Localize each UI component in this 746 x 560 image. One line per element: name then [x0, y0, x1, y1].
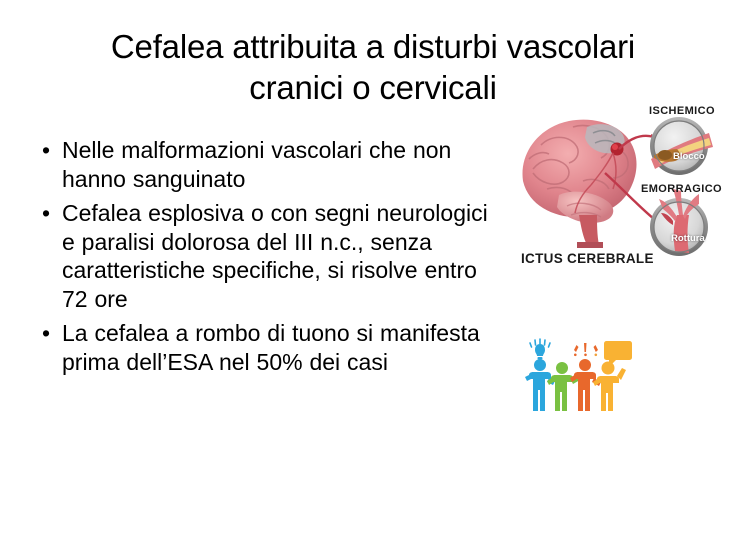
list-item: • La cefalea a rombo di tuono si manifes… [36, 319, 506, 376]
bullet-marker: • [36, 199, 62, 228]
person-yellow [593, 362, 626, 412]
bullet-marker: • [36, 136, 62, 165]
brain-stroke-image: ISCHEMICO EMORRAGICO Blocco Rottura ICTU… [513, 103, 735, 268]
people-ideas-svg [521, 332, 635, 416]
brain-illustration [522, 120, 636, 248]
person-green [547, 362, 580, 411]
bullet-marker: • [36, 319, 62, 348]
bullet-text: Nelle malformazioni vascolari che non ha… [62, 136, 506, 193]
list-item: • Cefalea esplosiva o con segni neurolog… [36, 199, 506, 313]
bullet-list: • Nelle malformazioni vascolari che non … [36, 136, 506, 382]
people-ideas-image [521, 332, 635, 416]
bullet-text: Cefalea esplosiva o con segni neurologic… [62, 199, 506, 313]
figure-label-emorragico: EMORRAGICO [641, 183, 722, 195]
lightbulb-glass-icon [535, 344, 545, 356]
inset-ischemic [650, 117, 713, 175]
figure-caption-ictus-cerebrale: ICTUS CEREBRALE [521, 251, 654, 266]
page-title-line-1: Cefalea attribuita a disturbi vascolari [40, 26, 706, 67]
page-title-line-2: cranici o cervicali [40, 67, 706, 108]
figure-label-ischemico: ISCHEMICO [649, 105, 715, 117]
inset-word-blocco: Blocco [673, 151, 705, 162]
page-title: Cefalea attribuita a disturbi vascolari … [40, 26, 706, 108]
bullet-text: La cefalea a rombo di tuono si manifesta… [62, 319, 506, 376]
list-item: • Nelle malformazioni vascolari che non … [36, 136, 506, 193]
inset-hemorrhagic [650, 189, 708, 256]
inset-word-rottura: Rottura [671, 233, 705, 244]
person-blue [525, 359, 555, 411]
exclamation-marks-icon [574, 343, 598, 356]
